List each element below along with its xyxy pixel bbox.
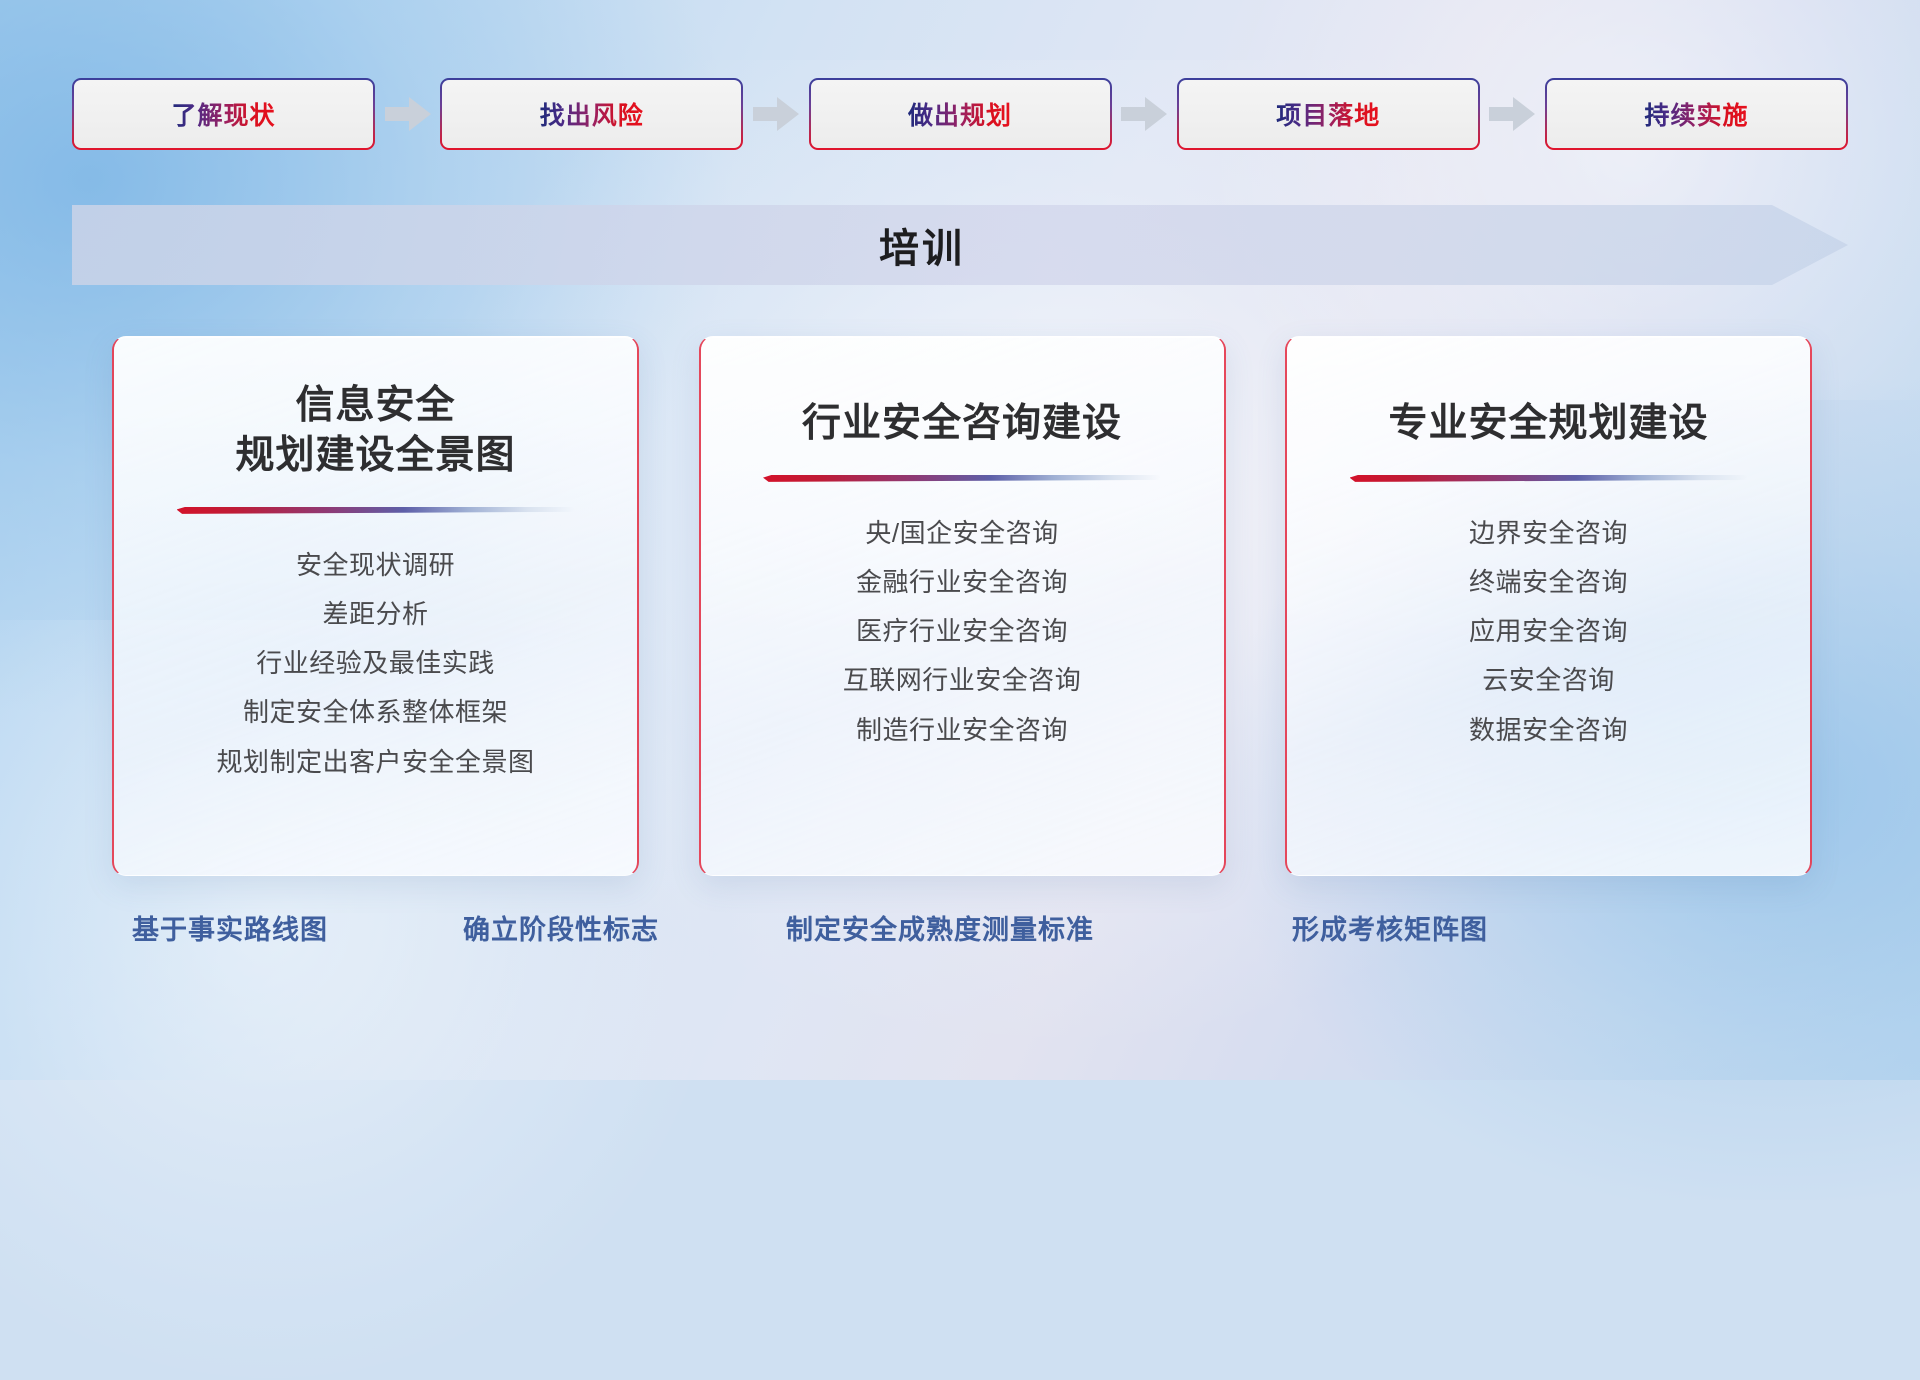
training-banner: 培训 <box>72 205 1848 285</box>
card-1-title: 信息安全 规划建设全景图 <box>235 381 515 481</box>
card-1[interactable]: 信息安全 规划建设全景图 安全现状调研 差距分析 行业经验及最佳实践 制定安全体… <box>112 336 639 876</box>
list-item: 金融行业安全咨询 <box>856 567 1068 598</box>
footer-label-3: 制定安全成熟度测量标准 <box>786 908 1094 947</box>
card-2-title: 行业安全咨询建设 <box>802 399 1122 449</box>
card-3-inner: 专业安全规划建设 边界安全咨询 终端安全咨询 应用安全咨询 云安全咨询 数据安全… <box>1287 337 1810 746</box>
footer-label-2: 确立阶段性标志 <box>463 908 659 947</box>
step-box-3[interactable]: 做出规划 <box>809 78 1112 150</box>
process-step-row: 了解现状 找出风险 做出规划 项目落地 <box>72 78 1848 150</box>
step-box-1-inner: 了解现状 <box>74 80 373 148</box>
list-item: 医疗行业安全咨询 <box>856 616 1068 647</box>
list-item: 数据安全咨询 <box>1469 715 1628 746</box>
card-1-list: 安全现状调研 差距分析 行业经验及最佳实践 制定安全体系整体框架 规划制定出客户… <box>114 550 637 778</box>
list-item: 行业经验及最佳实践 <box>256 648 495 679</box>
list-item: 边界安全咨询 <box>1469 518 1628 549</box>
card-1-divider <box>177 507 575 514</box>
footer-label-1: 基于事实路线图 <box>132 908 328 947</box>
step-label-5: 持续实施 <box>1644 96 1748 132</box>
infographic-stage: 了解现状 找出风险 做出规划 项目落地 <box>0 0 1920 1080</box>
step-box-4[interactable]: 项目落地 <box>1177 78 1480 150</box>
card-2[interactable]: 行业安全咨询建设 央/国企安全咨询 金融行业安全咨询 医疗行业安全咨询 互联网行… <box>699 336 1226 876</box>
list-item: 制定安全体系整体框架 <box>243 697 508 728</box>
banner-title: 培训 <box>72 205 1772 285</box>
list-item: 差距分析 <box>322 599 428 630</box>
list-item: 终端安全咨询 <box>1469 567 1628 598</box>
step-box-3-inner: 做出规划 <box>811 80 1110 148</box>
card-3-divider <box>1350 475 1748 482</box>
footer-label-row: 基于事实路线图 确立阶段性标志 制定安全成熟度测量标准 形成考核矩阵图 <box>0 908 1920 968</box>
card-3[interactable]: 专业安全规划建设 边界安全咨询 终端安全咨询 应用安全咨询 云安全咨询 数据安全… <box>1285 336 1812 876</box>
step-box-2-inner: 找出风险 <box>442 80 741 148</box>
step-box-2[interactable]: 找出风险 <box>440 78 743 150</box>
card-3-list: 边界安全咨询 终端安全咨询 应用安全咨询 云安全咨询 数据安全咨询 <box>1287 518 1810 746</box>
list-item: 规划制定出客户安全全景图 <box>216 747 534 778</box>
step-box-4-inner: 项目落地 <box>1179 80 1478 148</box>
chevron-right-arrow-icon-3 <box>1121 97 1167 131</box>
list-item: 安全现状调研 <box>296 550 455 581</box>
step-box-5[interactable]: 持续实施 <box>1545 78 1848 150</box>
list-item: 制造行业安全咨询 <box>856 715 1068 746</box>
list-item: 互联网行业安全咨询 <box>843 665 1082 696</box>
card-2-list: 央/国企安全咨询 金融行业安全咨询 医疗行业安全咨询 互联网行业安全咨询 制造行… <box>701 518 1224 746</box>
list-item: 应用安全咨询 <box>1469 616 1628 647</box>
card-row: 信息安全 规划建设全景图 安全现状调研 差距分析 行业经验及最佳实践 制定安全体… <box>112 336 1812 876</box>
step-box-5-inner: 持续实施 <box>1547 80 1846 148</box>
step-label-3: 做出规划 <box>908 96 1012 132</box>
card-2-inner: 行业安全咨询建设 央/国企安全咨询 金融行业安全咨询 医疗行业安全咨询 互联网行… <box>701 337 1224 746</box>
list-item: 云安全咨询 <box>1482 665 1615 696</box>
card-2-divider <box>763 475 1161 482</box>
step-label-1: 了解现状 <box>171 96 275 132</box>
list-item: 央/国企安全咨询 <box>865 518 1058 549</box>
step-label-4: 项目落地 <box>1276 96 1380 132</box>
chevron-right-arrow-icon-1 <box>385 97 431 131</box>
chevron-right-arrow-icon-2 <box>753 97 799 131</box>
chevron-right-arrow-icon-4 <box>1489 97 1535 131</box>
card-3-title: 专业安全规划建设 <box>1388 399 1708 449</box>
card-1-inner: 信息安全 规划建设全景图 安全现状调研 差距分析 行业经验及最佳实践 制定安全体… <box>114 337 637 778</box>
step-box-1[interactable]: 了解现状 <box>72 78 375 150</box>
footer-label-4: 形成考核矩阵图 <box>1292 908 1488 947</box>
step-label-2: 找出风险 <box>540 96 644 132</box>
